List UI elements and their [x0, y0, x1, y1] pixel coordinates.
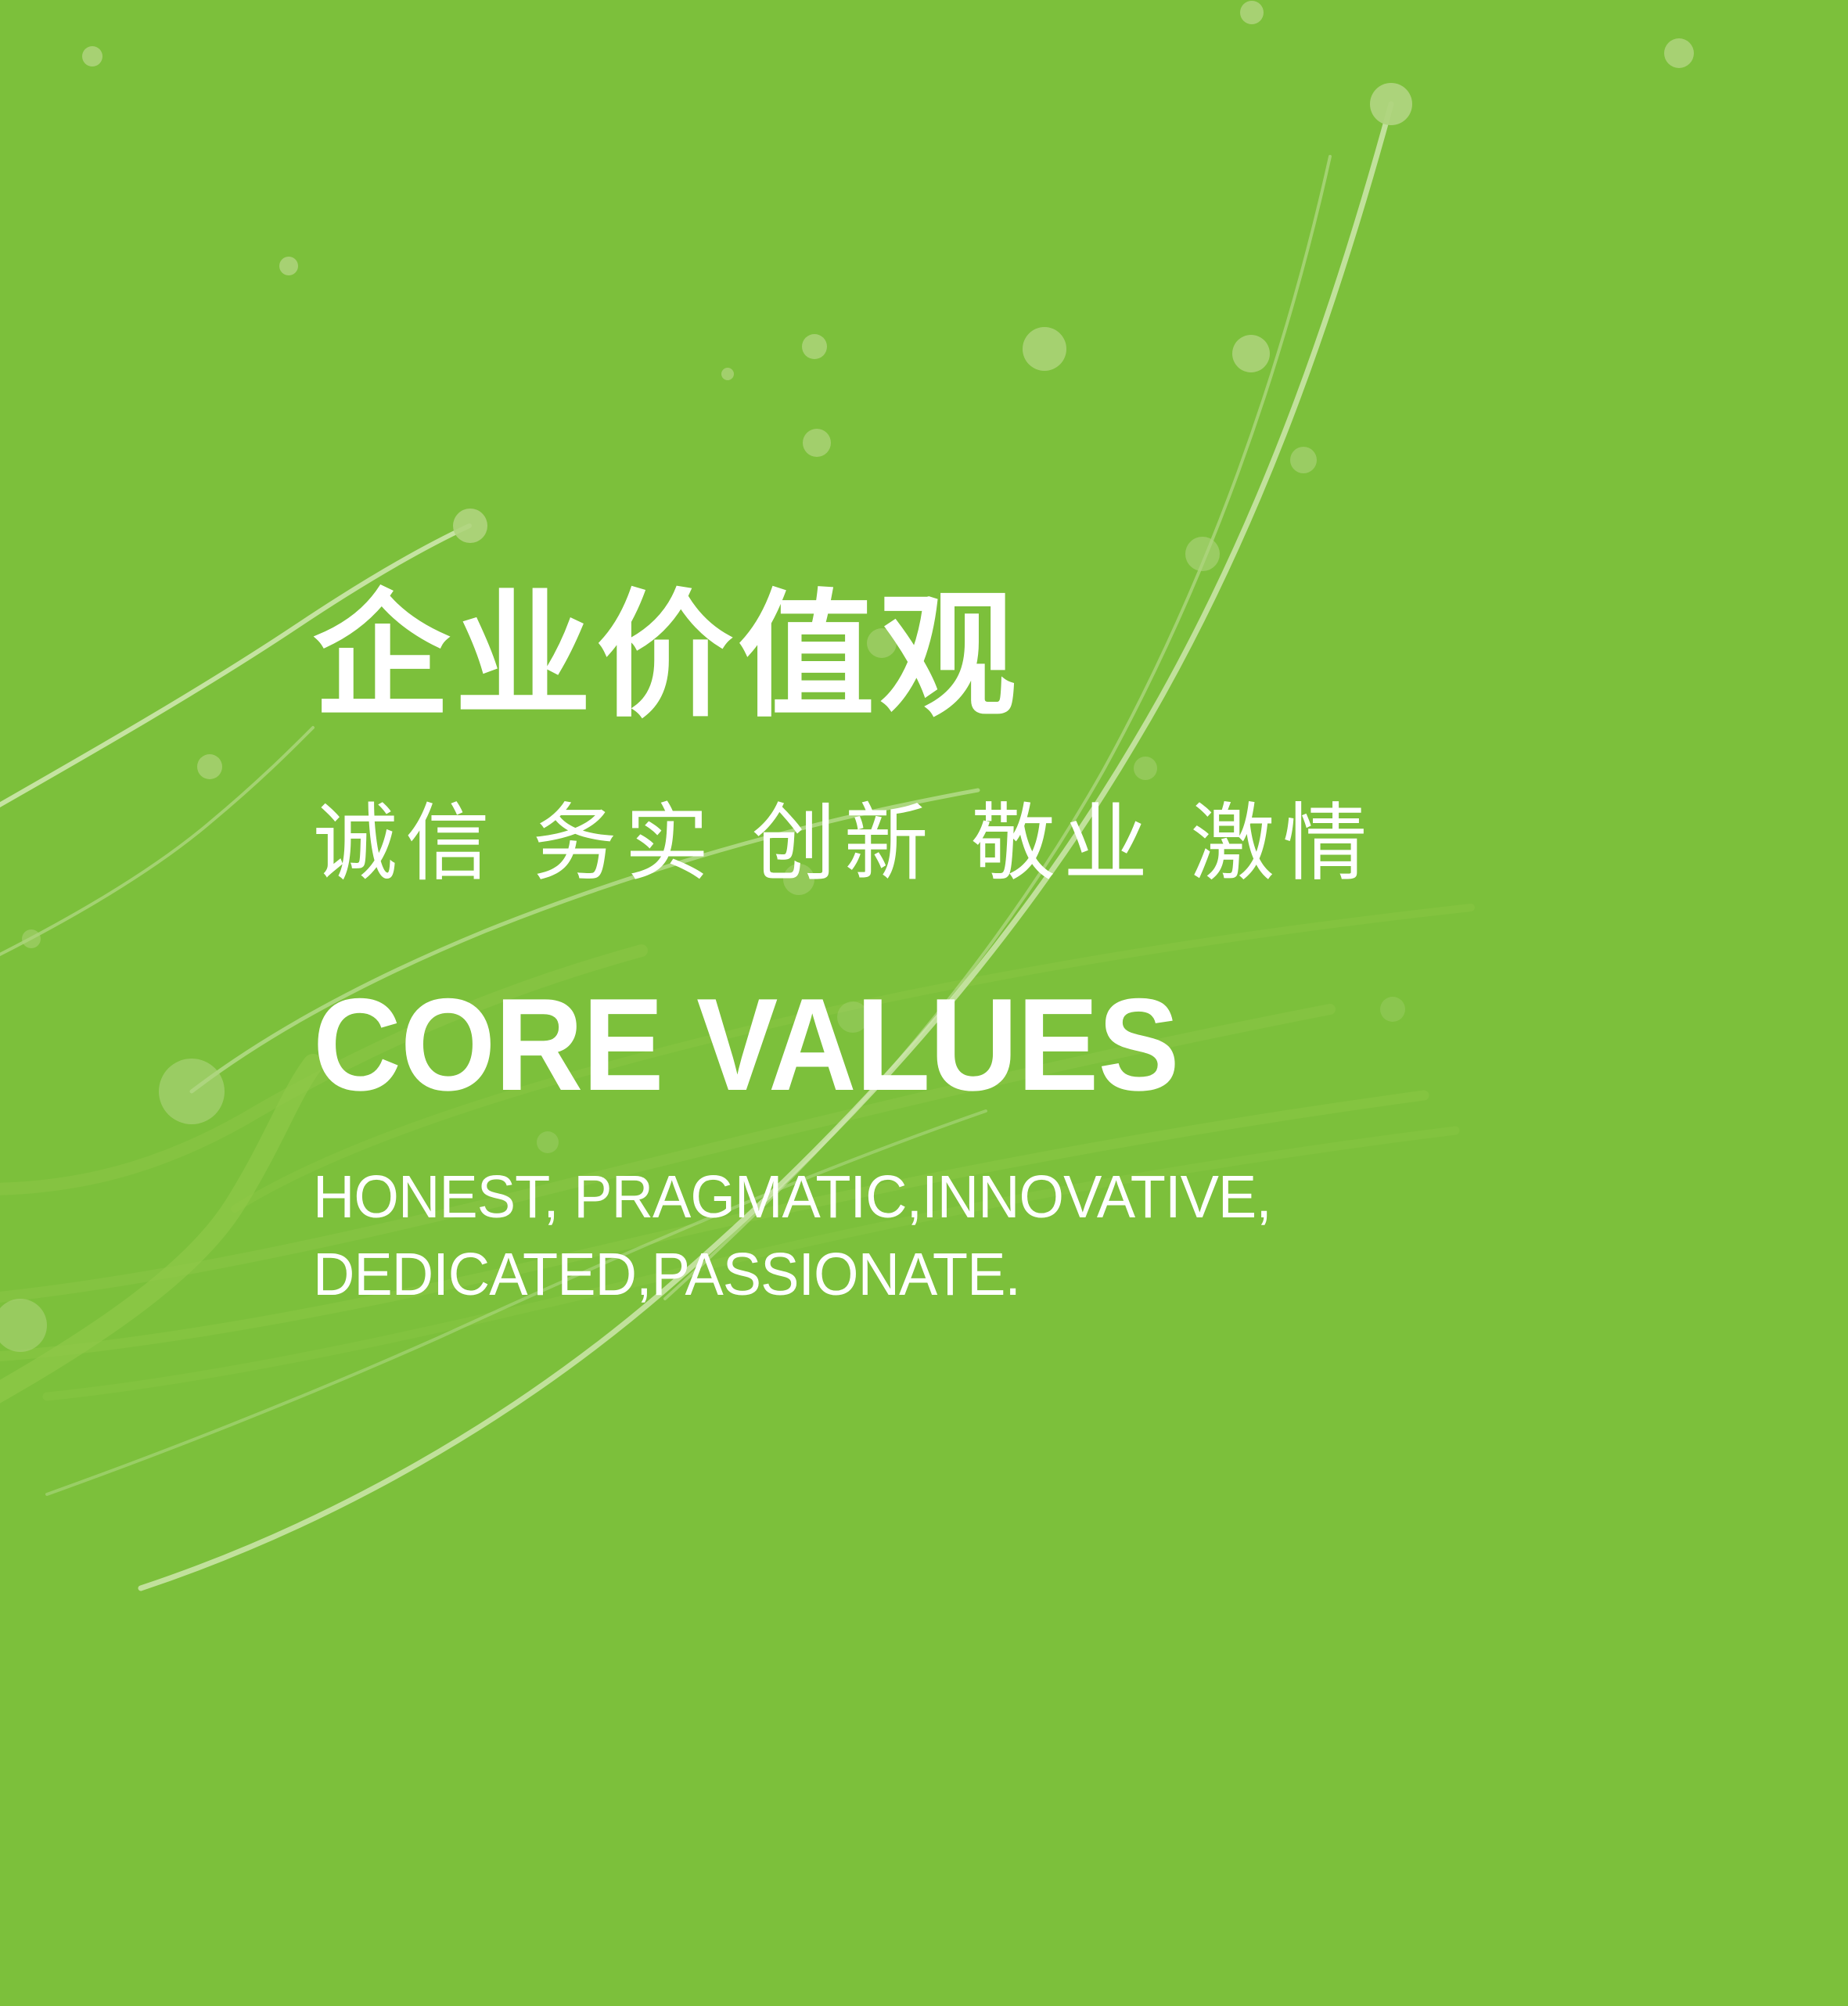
node-dot — [721, 368, 734, 380]
left-thin-curve-2 — [0, 728, 313, 962]
node-dot — [197, 754, 222, 779]
body-english-line-2: DEDICATED,PASSIONATE. — [313, 1236, 1710, 1314]
core-values-poster: 企业价值观 诚信 务实 创新 敬业 激情 CORE VALUES HONEST,… — [0, 0, 1848, 2006]
node-dot — [1232, 335, 1270, 372]
node-dot — [453, 509, 487, 543]
node-dot — [1370, 83, 1412, 125]
node-dot — [279, 257, 298, 275]
node-dot — [1664, 38, 1694, 68]
node-dot — [1240, 1, 1264, 24]
body-english-line-1: HONEST, PRAGMATIC,INNOVATIVE, — [313, 1159, 1710, 1236]
body-english: HONEST, PRAGMATIC,INNOVATIVE, DEDICATED,… — [313, 1159, 1710, 1313]
node-dot — [22, 929, 41, 948]
page-title-english: CORE VALUES — [313, 979, 1666, 1110]
node-dot — [1185, 537, 1220, 571]
node-dot — [159, 1059, 225, 1124]
node-dot — [0, 1299, 47, 1352]
subtitle-chinese: 诚信 务实 创新 敬业 激情 — [313, 802, 1768, 886]
page-title-chinese: 企业价值观 — [313, 588, 1768, 725]
text-content-block: 企业价值观 诚信 务实 创新 敬业 激情 CORE VALUES HONEST,… — [313, 588, 1768, 1313]
node-dot — [803, 429, 831, 457]
node-dot — [1023, 327, 1066, 371]
thick-curve-1 — [0, 1064, 313, 1400]
node-dot — [802, 334, 827, 359]
node-dot — [82, 46, 102, 67]
node-dot — [1290, 447, 1317, 473]
